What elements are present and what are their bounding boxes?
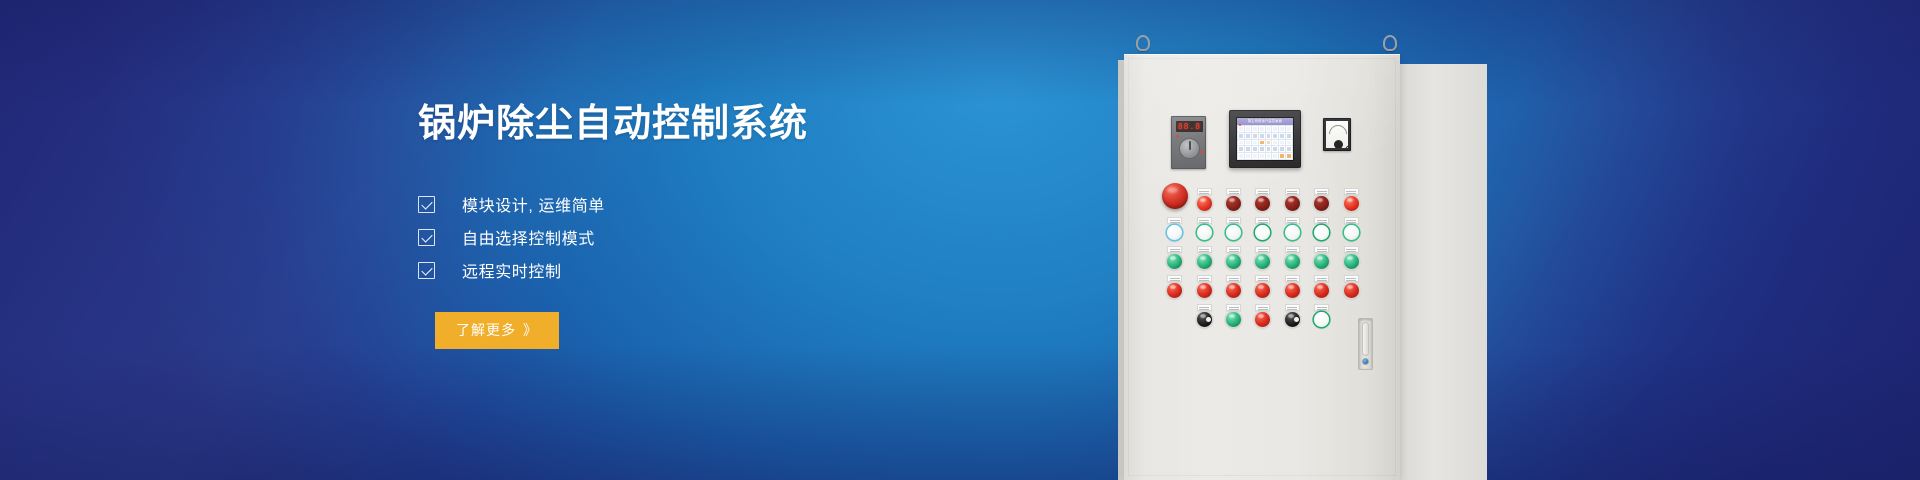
button-row-white-indicators [1160, 217, 1366, 246]
emergency-stop-cell[interactable] [1160, 188, 1189, 209]
hmi-grid-cell [1259, 153, 1265, 159]
stop-button-red[interactable] [1285, 283, 1300, 298]
indicator-button-grid [1160, 188, 1366, 333]
hmi-grid-cell [1245, 153, 1251, 159]
indicator-cell[interactable] [1337, 188, 1366, 211]
stop-button-red[interactable] [1255, 283, 1270, 298]
button-label-tag [1285, 304, 1300, 311]
button-label-tag [1314, 246, 1329, 253]
alarm-lamp-red[interactable] [1197, 196, 1212, 211]
feature-item-3: 远程实时控制 [418, 254, 978, 287]
indicator-lamp-white[interactable] [1167, 225, 1182, 240]
hmi-grid-cell [1266, 126, 1272, 132]
hmi-screen-title: 除尘系统运行监控画面 [1248, 120, 1282, 123]
indicator-cell[interactable] [1307, 304, 1336, 327]
alarm-lamp-red[interactable] [1314, 196, 1329, 211]
alarm-lamp-red[interactable] [1226, 196, 1241, 211]
controller-display-value: 88.8 [1178, 123, 1201, 131]
indicator-cell[interactable] [1278, 217, 1307, 240]
promo-banner: 锅炉除尘自动控制系统 模块设计, 运维简单 自由选择控制模式 远程实时控制 了解… [0, 0, 1920, 480]
button-label-tag [1255, 246, 1270, 253]
start-button-green[interactable] [1255, 254, 1270, 269]
double-chevron-right-icon: 》 [523, 320, 538, 340]
hmi-grid-cell [1272, 153, 1278, 159]
button-label-tag [1167, 246, 1182, 253]
feature-label-2: 自由选择控制模式 [462, 225, 595, 249]
digital-temperature-controller[interactable]: 88.8 [1171, 116, 1206, 169]
checkbox-check-icon [418, 262, 435, 279]
stop-button-red[interactable] [1197, 283, 1212, 298]
controller-status-led-icon [1200, 151, 1203, 154]
indicator-cell[interactable] [1219, 217, 1248, 240]
hmi-grid-cell [1272, 126, 1278, 132]
indicator-cell[interactable] [1189, 188, 1218, 211]
hmi-grid-cell [1279, 140, 1285, 146]
button-label-tag [1344, 217, 1359, 224]
hmi-grid-cell [1272, 140, 1278, 146]
button-label-tag [1285, 246, 1300, 253]
indicator-cell[interactable] [1219, 275, 1248, 298]
stop-button-red[interactable] [1314, 283, 1329, 298]
indicator-cell[interactable] [1278, 304, 1307, 327]
selector-switch-black[interactable] [1197, 312, 1212, 327]
selector-switch-black[interactable] [1285, 312, 1300, 327]
hmi-grid-cell [1286, 146, 1292, 152]
button-label-tag [1197, 188, 1212, 195]
indicator-cell[interactable] [1189, 275, 1218, 298]
indicator-cell[interactable] [1278, 246, 1307, 269]
hmi-grid-row [1238, 153, 1292, 159]
hmi-grid-cell [1266, 133, 1272, 139]
hmi-grid-cell [1259, 146, 1265, 152]
start-button-green[interactable] [1344, 254, 1359, 269]
button-label-tag [1344, 188, 1359, 195]
hmi-grid-cell [1252, 133, 1258, 139]
hmi-grid-cell [1238, 153, 1244, 159]
button-label-tag [1197, 246, 1212, 253]
indicator-lamp-white[interactable] [1314, 225, 1329, 240]
indicator-cell[interactable] [1337, 217, 1366, 240]
hmi-grid-row [1238, 126, 1292, 132]
button-label-tag [1344, 246, 1359, 253]
hmi-grid-cell [1245, 126, 1251, 132]
learn-more-button[interactable]: 了解更多 》 [435, 312, 559, 349]
cabinet-side-panel [1395, 64, 1487, 480]
indicator-lamp-white[interactable] [1255, 225, 1270, 240]
hmi-grid-cell [1279, 133, 1285, 139]
hmi-grid-cell [1272, 133, 1278, 139]
gauge-face [1326, 121, 1348, 148]
button-label-tag [1285, 188, 1300, 195]
hmi-grid-cell [1286, 140, 1292, 146]
start-button-green[interactable] [1197, 254, 1212, 269]
gauge-hub [1334, 140, 1343, 148]
button-label-tag [1255, 275, 1270, 282]
hmi-grid-row [1238, 146, 1292, 152]
lifting-eyebolt-icon [1136, 35, 1150, 51]
indicator-cell[interactable] [1307, 188, 1336, 211]
button-row-green-running [1160, 246, 1366, 275]
indicator-cell[interactable] [1160, 246, 1189, 269]
indicator-cell[interactable] [1278, 275, 1307, 298]
lifting-eyebolt-icon [1383, 35, 1397, 51]
hmi-grid-cell [1245, 133, 1251, 139]
indicator-cell[interactable] [1189, 217, 1218, 240]
button-label-tag [1167, 217, 1182, 224]
hmi-grid-cell [1238, 126, 1244, 132]
button-label-tag [1314, 188, 1329, 195]
button-label-tag [1255, 188, 1270, 195]
indicator-cell[interactable] [1248, 188, 1277, 211]
button-label-tag [1197, 217, 1212, 224]
indicator-cell[interactable] [1307, 217, 1336, 240]
indicator-lamp-white[interactable] [1314, 312, 1329, 327]
button-label-tag [1197, 275, 1212, 282]
hmi-grid-cell [1259, 126, 1265, 132]
indicator-cell[interactable] [1248, 275, 1277, 298]
hmi-grid-cell [1252, 140, 1258, 146]
indicator-cell[interactable] [1278, 188, 1307, 211]
indicator-cell[interactable] [1307, 275, 1336, 298]
button-row-red-stop [1160, 275, 1366, 304]
button-label-tag [1226, 246, 1241, 253]
alarm-lamp-red[interactable] [1285, 196, 1300, 211]
hmi-screen-data-grid [1237, 125, 1293, 160]
indicator-cell[interactable] [1219, 304, 1248, 327]
button-row-selector-switches [1160, 304, 1366, 333]
start-button-green[interactable] [1226, 312, 1241, 327]
indicator-cell[interactable] [1248, 304, 1277, 327]
analog-ammeter-gauge [1323, 118, 1351, 151]
indicator-cell[interactable] [1160, 217, 1189, 240]
door-handle-bar[interactable] [1362, 322, 1369, 356]
hmi-grid-cell [1238, 140, 1244, 146]
hmi-grid-cell [1245, 146, 1251, 152]
indicator-cell[interactable] [1307, 246, 1336, 269]
button-label-tag [1167, 275, 1182, 282]
hmi-grid-cell [1272, 146, 1278, 152]
hmi-grid-cell [1266, 153, 1272, 159]
learn-more-label: 了解更多 [456, 320, 516, 340]
alarm-lamp-red[interactable] [1344, 196, 1359, 211]
hmi-grid-cell [1279, 146, 1285, 152]
hmi-touch-panel[interactable]: 除尘系统运行监控画面 [1229, 110, 1301, 168]
hmi-grid-cell [1252, 146, 1258, 152]
indicator-cell[interactable] [1337, 246, 1366, 269]
checkbox-check-icon [418, 229, 435, 246]
feature-item-2: 自由选择控制模式 [418, 221, 978, 254]
button-label-tag [1226, 275, 1241, 282]
feature-list: 模块设计, 运维简单 自由选择控制模式 远程实时控制 [418, 188, 978, 287]
hmi-grid-cell [1259, 133, 1265, 139]
button-label-tag [1285, 217, 1300, 224]
start-button-green[interactable] [1285, 254, 1300, 269]
controller-rotary-knob[interactable] [1179, 138, 1200, 159]
controller-status-led-icon [1176, 135, 1179, 138]
start-button-green[interactable] [1167, 254, 1182, 269]
hmi-grid-cell-alarm [1259, 140, 1265, 146]
indicator-cell[interactable] [1189, 304, 1218, 327]
button-row-emergency [1160, 188, 1366, 217]
indicator-cell[interactable] [1219, 188, 1248, 211]
feature-item-1: 模块设计, 运维简单 [418, 188, 978, 221]
button-label-tag [1314, 304, 1329, 311]
indicator-cell[interactable] [1248, 246, 1277, 269]
button-label-tag [1255, 304, 1270, 311]
hmi-grid-cell [1238, 146, 1244, 152]
stop-button-red[interactable] [1344, 283, 1359, 298]
stop-button-red[interactable] [1255, 312, 1270, 327]
start-button-green[interactable] [1226, 254, 1241, 269]
button-label-tag [1344, 275, 1359, 282]
button-label-tag [1314, 275, 1329, 282]
hmi-grid-cell [1245, 140, 1251, 146]
feature-label-3: 远程实时控制 [462, 258, 562, 282]
hmi-screen[interactable]: 除尘系统运行监控画面 [1236, 117, 1294, 161]
feature-label-1: 模块设计, 运维简单 [462, 192, 605, 216]
button-label-tag [1197, 304, 1212, 311]
button-label-tag [1226, 304, 1241, 311]
page-title: 锅炉除尘自动控制系统 [418, 104, 978, 146]
hmi-grid-cell-alarm [1279, 153, 1285, 159]
indicator-cell[interactable] [1219, 246, 1248, 269]
button-label-tag [1226, 217, 1241, 224]
indicator-cell[interactable] [1337, 275, 1366, 298]
hmi-grid-cell [1252, 126, 1258, 132]
hmi-grid-row [1238, 140, 1292, 146]
indicator-cell[interactable] [1189, 246, 1218, 269]
hmi-screen-title-bar: 除尘系统运行监控画面 [1237, 118, 1293, 125]
alarm-lamp-red[interactable] [1255, 196, 1270, 211]
hmi-grid-cell [1286, 133, 1292, 139]
emergency-stop-button[interactable] [1162, 183, 1188, 209]
indicator-lamp-white[interactable] [1197, 225, 1212, 240]
button-label-tag [1285, 275, 1300, 282]
indicator-lamp-white[interactable] [1344, 225, 1359, 240]
cabinet-front-door: 88.8 除尘系统运行监控画面 [1124, 54, 1400, 480]
indicator-lamp-white[interactable] [1285, 225, 1300, 240]
banner-copy-block: 锅炉除尘自动控制系统 模块设计, 运维简单 自由选择控制模式 远程实时控制 了解… [418, 104, 978, 349]
indicator-lamp-white[interactable] [1226, 225, 1241, 240]
button-label-tag [1226, 188, 1241, 195]
button-label-tag [1314, 217, 1329, 224]
stop-button-red[interactable] [1167, 283, 1182, 298]
hmi-grid-cell [1266, 146, 1272, 152]
checkbox-check-icon [418, 196, 435, 213]
controller-display: 88.8 [1176, 121, 1203, 132]
hmi-grid-cell-alarm [1286, 153, 1292, 159]
start-button-green[interactable] [1314, 254, 1329, 269]
hmi-grid-cell-warning [1266, 140, 1272, 146]
button-label-tag [1255, 217, 1270, 224]
hmi-grid-cell [1252, 153, 1258, 159]
recessed-door-handle[interactable] [1358, 318, 1373, 370]
control-cabinet: 88.8 除尘系统运行监控画面 [1118, 48, 1488, 480]
indicator-cell[interactable] [1248, 217, 1277, 240]
hmi-grid-cell [1238, 133, 1244, 139]
stop-button-red[interactable] [1226, 283, 1241, 298]
door-lock-icon[interactable] [1362, 358, 1369, 365]
indicator-cell[interactable] [1160, 275, 1189, 298]
hmi-grid-row [1238, 133, 1292, 139]
hmi-power-led-icon [1239, 124, 1241, 126]
hmi-grid-cell [1286, 126, 1292, 132]
hmi-grid-cell [1279, 126, 1285, 132]
